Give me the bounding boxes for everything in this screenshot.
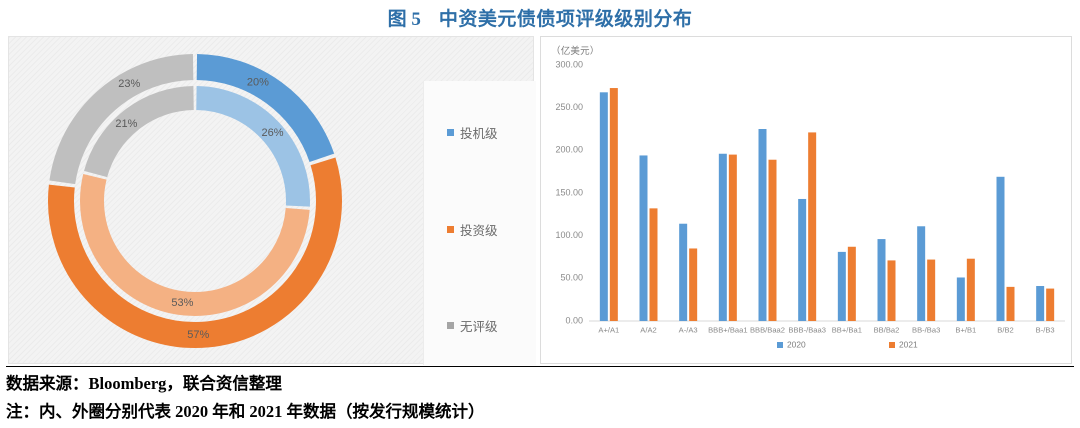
- x-tick-8: BB-/Ba3: [912, 326, 940, 335]
- donut-chart-panel: 26%53%21%20%57%23% 投机级 投资级 无评级: [8, 36, 534, 364]
- donut-label-2020-0: 26%: [261, 127, 283, 139]
- x-tick-1: A/A2: [640, 326, 656, 335]
- bar-chart-panel: （亿美元） 0.0050.00100.00150.00200.00250.003…: [540, 36, 1072, 364]
- figure-number: 图 5: [388, 4, 421, 31]
- bar-2021-BB-/Ba3[interactable]: [927, 260, 935, 321]
- x-tick-9: B+/B1: [955, 326, 976, 335]
- bar-chart-bars: [600, 88, 1054, 321]
- bar-2020-BB-/Ba3[interactable]: [917, 226, 925, 321]
- legend-item-unrated[interactable]: 无评级: [447, 316, 527, 335]
- y-tick-5: 250.00: [555, 102, 583, 112]
- donut-segment-2020-1[interactable]: [92, 177, 298, 304]
- x-tick-4: BBB/Baa2: [750, 326, 785, 335]
- legend-swatch-speculative: [447, 129, 454, 136]
- x-tick-10: B/B2: [997, 326, 1013, 335]
- x-tick-2: A-/A3: [679, 326, 698, 335]
- legend-swatch-investment: [447, 226, 454, 233]
- bar-2020-A-/A3[interactable]: [679, 224, 687, 321]
- bar-2021-B-/B3[interactable]: [1046, 289, 1054, 321]
- bar-2021-B+/B1[interactable]: [967, 259, 975, 321]
- bar-2020-BB/Ba2[interactable]: [878, 239, 886, 321]
- footer-notes: 数据来源：Bloomberg，联合资信整理 注：内、外圈分别代表 2020 年和…: [6, 370, 1076, 426]
- bar-2020-B/B2[interactable]: [997, 177, 1005, 321]
- donut-chart-svg: 26%53%21%20%57%23%: [37, 43, 353, 359]
- donut-legend: 投机级 投资级 无评级: [447, 123, 527, 335]
- donut-label-2021-1: 57%: [187, 329, 209, 341]
- y-tick-1: 50.00: [560, 273, 583, 283]
- y-tick-0: 0.00: [565, 315, 583, 325]
- charts-row: 26%53%21%20%57%23% 投机级 投资级 无评级 （亿美元） 0.0…: [8, 36, 1072, 364]
- data-source-line: 数据来源：Bloomberg，联合资信整理: [6, 370, 1076, 398]
- bar-legend-label-2021[interactable]: 2021: [899, 340, 918, 350]
- donut-label-2020-2: 21%: [115, 118, 137, 130]
- y-tick-6: 300.00: [555, 59, 583, 69]
- bar-chart-x-axis: A+/A1A/A2A-/A3BBB+/Baa1BBB/Baa2BBB-/Baa3…: [598, 326, 1054, 335]
- legend-item-investment[interactable]: 投资级: [447, 220, 527, 239]
- bar-legend-swatch-2021: [889, 342, 895, 348]
- x-tick-3: BBB+/Baa1: [708, 326, 747, 335]
- bar-2020-BBB/Baa2[interactable]: [759, 129, 767, 321]
- bar-2021-BBB-/Baa3[interactable]: [808, 132, 816, 321]
- donut-chart: 26%53%21%20%57%23%: [37, 43, 353, 359]
- legend-swatch-unrated: [447, 322, 454, 329]
- bar-2021-BBB/Baa2[interactable]: [769, 160, 777, 321]
- bar-2020-A/A2[interactable]: [640, 155, 648, 321]
- note-line: 注：内、外圈分别代表 2020 年和 2021 年数据（按发行规模统计）: [6, 398, 1076, 426]
- x-tick-7: BB/Ba2: [874, 326, 900, 335]
- x-tick-11: B-/B3: [1036, 326, 1055, 335]
- legend-label-investment: 投资级: [460, 220, 498, 239]
- bar-2021-A/A2[interactable]: [650, 208, 658, 321]
- y-tick-3: 150.00: [555, 187, 583, 197]
- x-tick-6: BB+/Ba1: [832, 326, 862, 335]
- legend-item-speculative[interactable]: 投机级: [447, 123, 527, 142]
- bar-2020-BBB+/Baa1[interactable]: [719, 154, 727, 321]
- x-tick-0: A+/A1: [598, 326, 619, 335]
- bar-2021-B/B2[interactable]: [1007, 287, 1015, 321]
- bar-legend-swatch-2020: [777, 342, 783, 348]
- legend-label-speculative: 投机级: [460, 123, 498, 142]
- donut-label-2020-1: 53%: [171, 297, 193, 309]
- bar-2020-B-/B3[interactable]: [1036, 286, 1044, 321]
- page-title: 图 5 中资美元债债项评级级别分布: [0, 0, 1080, 34]
- donut-label-2021-2: 23%: [118, 78, 140, 90]
- bar-2021-BBB+/Baa1[interactable]: [729, 155, 737, 321]
- bar-2021-BB/Ba2[interactable]: [888, 260, 896, 321]
- bar-legend-label-2020[interactable]: 2020: [787, 340, 806, 350]
- bar-2020-BB+/Ba1[interactable]: [838, 252, 846, 321]
- bar-chart-legend: 20202021: [777, 340, 918, 350]
- footer-divider: [6, 366, 1074, 367]
- bar-2020-B+/B1[interactable]: [957, 277, 965, 321]
- bar-chart-svg: 0.0050.00100.00150.00200.00250.00300.00 …: [541, 37, 1071, 363]
- y-tick-4: 200.00: [555, 145, 583, 155]
- figure-title-text: 中资美元债债项评级级别分布: [439, 4, 693, 31]
- bar-2020-BBB-/Baa3[interactable]: [798, 199, 806, 321]
- donut-label-2021-0: 20%: [247, 77, 269, 89]
- legend-label-unrated: 无评级: [460, 316, 498, 335]
- bar-2021-BB+/Ba1[interactable]: [848, 247, 856, 321]
- y-tick-2: 100.00: [555, 230, 583, 240]
- bar-2021-A-/A3[interactable]: [689, 248, 697, 321]
- bar-2020-A+/A1[interactable]: [600, 92, 608, 321]
- x-tick-5: BBB-/Baa3: [788, 326, 826, 335]
- bar-2021-A+/A1[interactable]: [610, 88, 618, 321]
